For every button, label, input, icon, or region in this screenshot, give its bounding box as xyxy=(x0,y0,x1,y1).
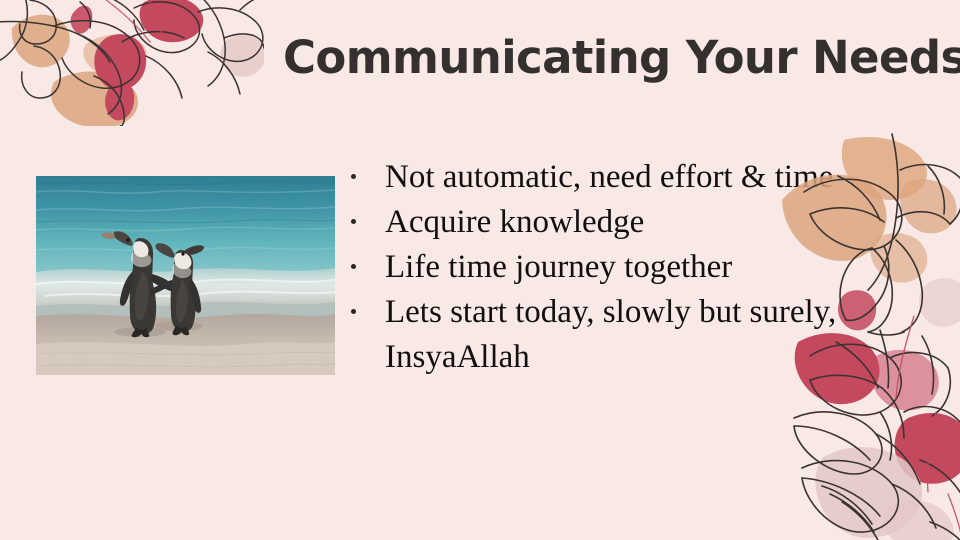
bullet-text: Life time journey together xyxy=(385,249,732,285)
bullet-item: Life time journey together xyxy=(348,245,868,290)
bullet-item: Not automatic, need effort & time xyxy=(348,155,868,200)
bullet-list: Not automatic, need effort & time Acquir… xyxy=(348,155,868,380)
bullet-item: Lets start today, slowly but surely, Ins… xyxy=(348,290,868,380)
bullet-dot-icon xyxy=(351,174,356,179)
bullet-dot-icon xyxy=(351,309,356,314)
bullet-text: Lets start today, slowly but surely, Ins… xyxy=(385,294,836,375)
penguin-beach-photo xyxy=(36,176,335,375)
floral-decoration-top-left-icon xyxy=(0,0,264,126)
bullet-item: Acquire knowledge xyxy=(348,200,868,245)
bullet-dot-icon xyxy=(351,264,356,269)
slide-canvas: Communicating Your Needs xyxy=(0,0,960,540)
bullet-text: Not automatic, need effort & time xyxy=(385,159,833,195)
bullet-dot-icon xyxy=(351,219,356,224)
slide-title: Communicating Your Needs xyxy=(283,30,923,86)
bullet-text: Acquire knowledge xyxy=(385,204,644,240)
